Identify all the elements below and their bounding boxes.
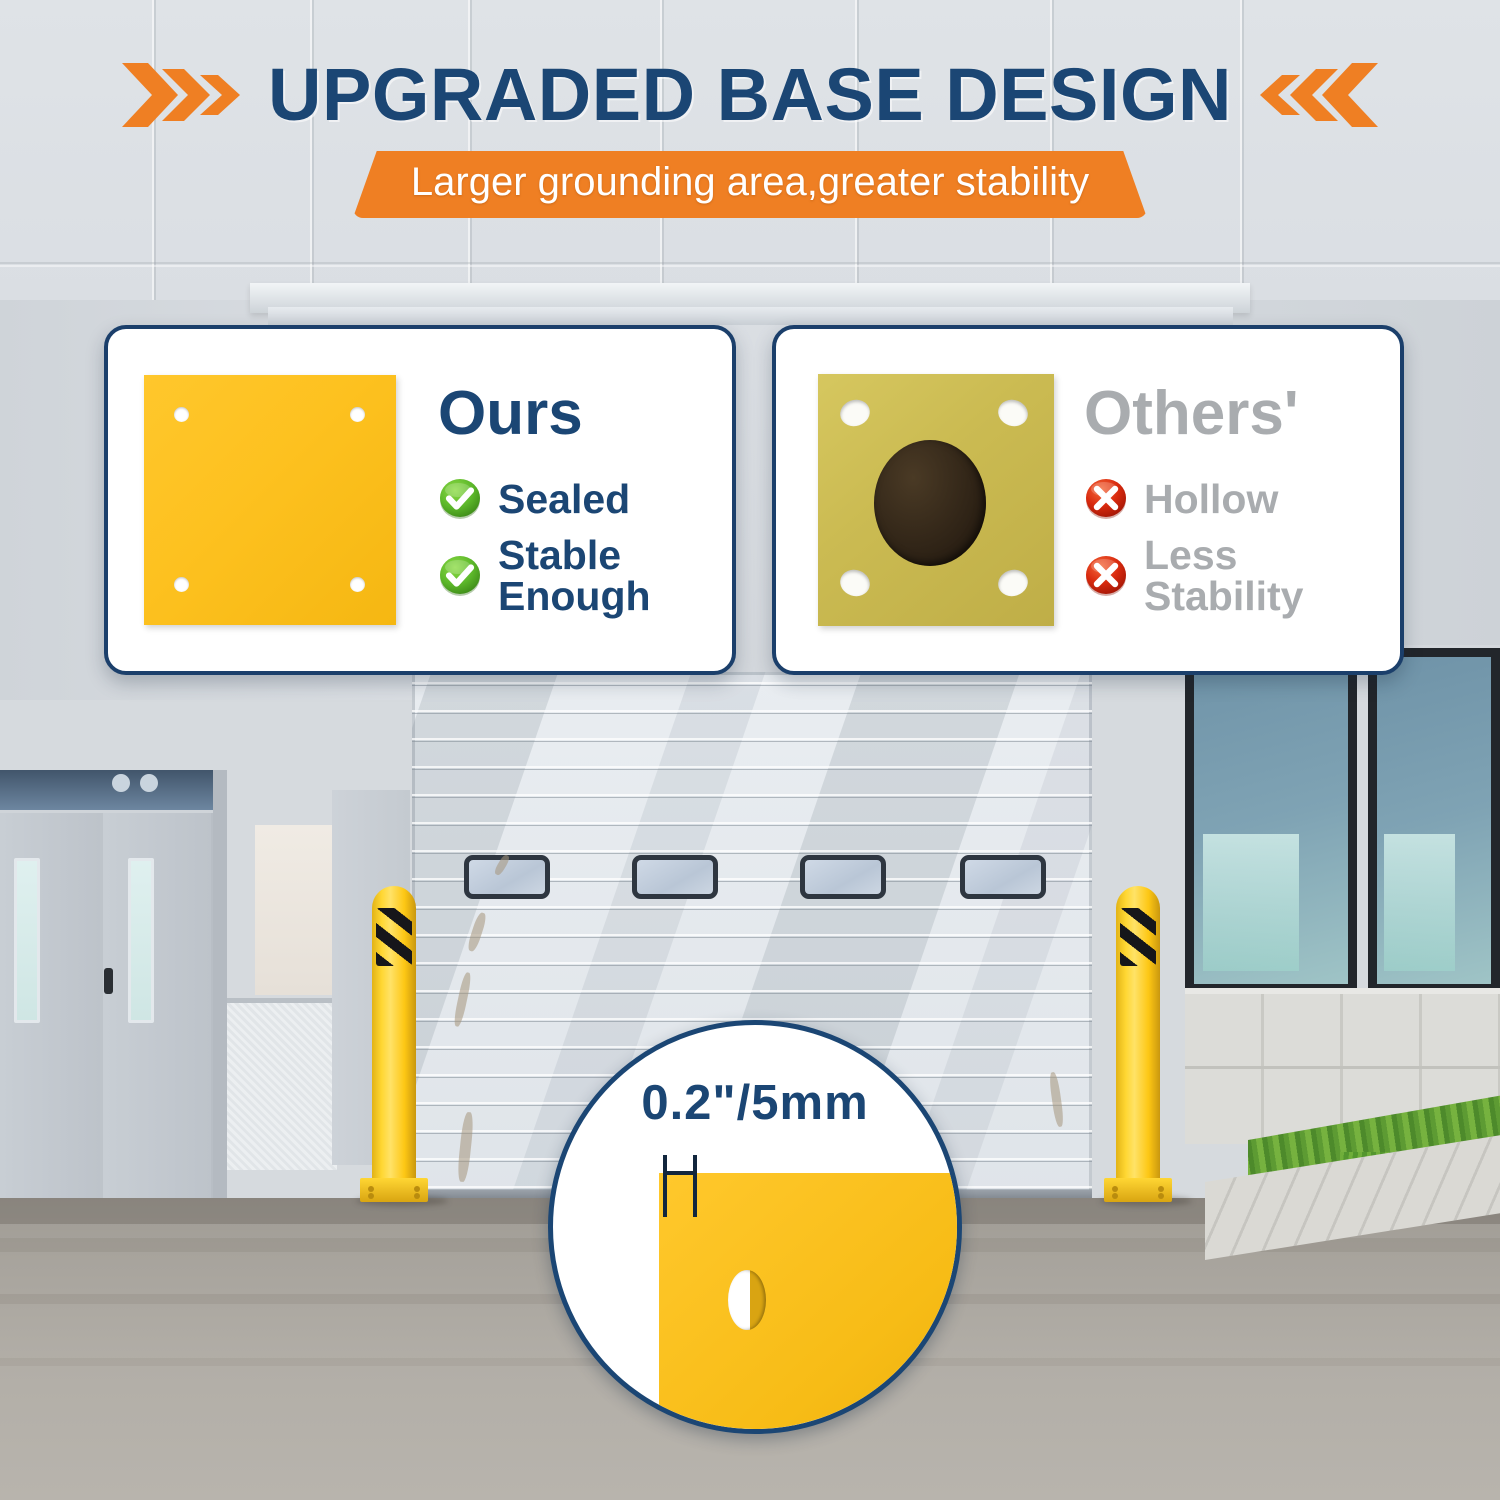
bollard-base-plate — [1104, 1178, 1172, 1202]
green-check-icon — [438, 477, 482, 521]
beige-wall-panel — [255, 825, 332, 995]
thickness-dimension-bracket-icon — [663, 1155, 697, 1217]
green-check-icon — [438, 554, 482, 598]
comparison-card-others: Others' — [772, 325, 1404, 675]
ours-card-body: Ours — [396, 383, 732, 617]
door-frame — [213, 770, 227, 1198]
thickness-label: 0.2"/5mm — [553, 1075, 957, 1131]
others-feature-2: Less Stability — [1084, 535, 1374, 617]
header: UPGRADED BASE DESIGN Larger grounding ar… — [0, 52, 1500, 218]
door-canopy-lower — [268, 307, 1233, 325]
tinted-window-right — [1368, 648, 1500, 993]
garage-door-window — [960, 855, 1046, 899]
center-hole — [874, 440, 986, 566]
ours-feature-1-label: Sealed — [498, 479, 630, 520]
garage-door-window — [632, 855, 718, 899]
garage-door-window — [800, 855, 886, 899]
ours-plate-image — [108, 375, 396, 625]
triple-chevron-left-icon — [1258, 59, 1378, 131]
stucco-wall-panel — [227, 998, 337, 1170]
plate-bolt-hole — [728, 1270, 766, 1330]
red-cross-icon — [1084, 554, 1128, 598]
others-feature-2-label: Less Stability — [1144, 535, 1374, 617]
transom-window — [0, 770, 213, 813]
bollard-base-plate — [360, 1178, 428, 1202]
hazard-stripe-icon — [1120, 908, 1156, 966]
comparison-card-ours: Ours — [104, 325, 736, 675]
door-handle — [104, 968, 113, 994]
others-title: Others' — [1084, 383, 1299, 445]
triple-chevron-right-icon — [122, 59, 242, 131]
others-feature-1-label: Hollow — [1144, 479, 1278, 520]
page-title: UPGRADED BASE DESIGN — [268, 52, 1232, 137]
thickness-detail-callout: 0.2"/5mm — [548, 1020, 962, 1434]
ours-title: Ours — [438, 383, 583, 445]
others-feature-1: Hollow — [1084, 477, 1278, 521]
hazard-stripe-icon — [376, 908, 412, 966]
hollow-base-plate-icon — [818, 374, 1054, 626]
ours-feature-1: Sealed — [438, 477, 630, 521]
solid-base-plate-icon — [144, 375, 396, 625]
others-plate-image — [776, 374, 1054, 626]
double-entry-door — [0, 813, 213, 1198]
others-card-body: Others' — [1054, 383, 1400, 617]
page-subtitle: Larger grounding area,greater stability — [353, 151, 1147, 218]
product-infographic: UPGRADED BASE DESIGN Larger grounding ar… — [0, 0, 1500, 1500]
ours-feature-2-label: Stable Enough — [498, 535, 718, 617]
yellow-plate-edge — [659, 1173, 962, 1434]
ours-feature-2: Stable Enough — [438, 535, 718, 617]
tinted-window-left — [1185, 648, 1357, 993]
red-cross-icon — [1084, 477, 1128, 521]
